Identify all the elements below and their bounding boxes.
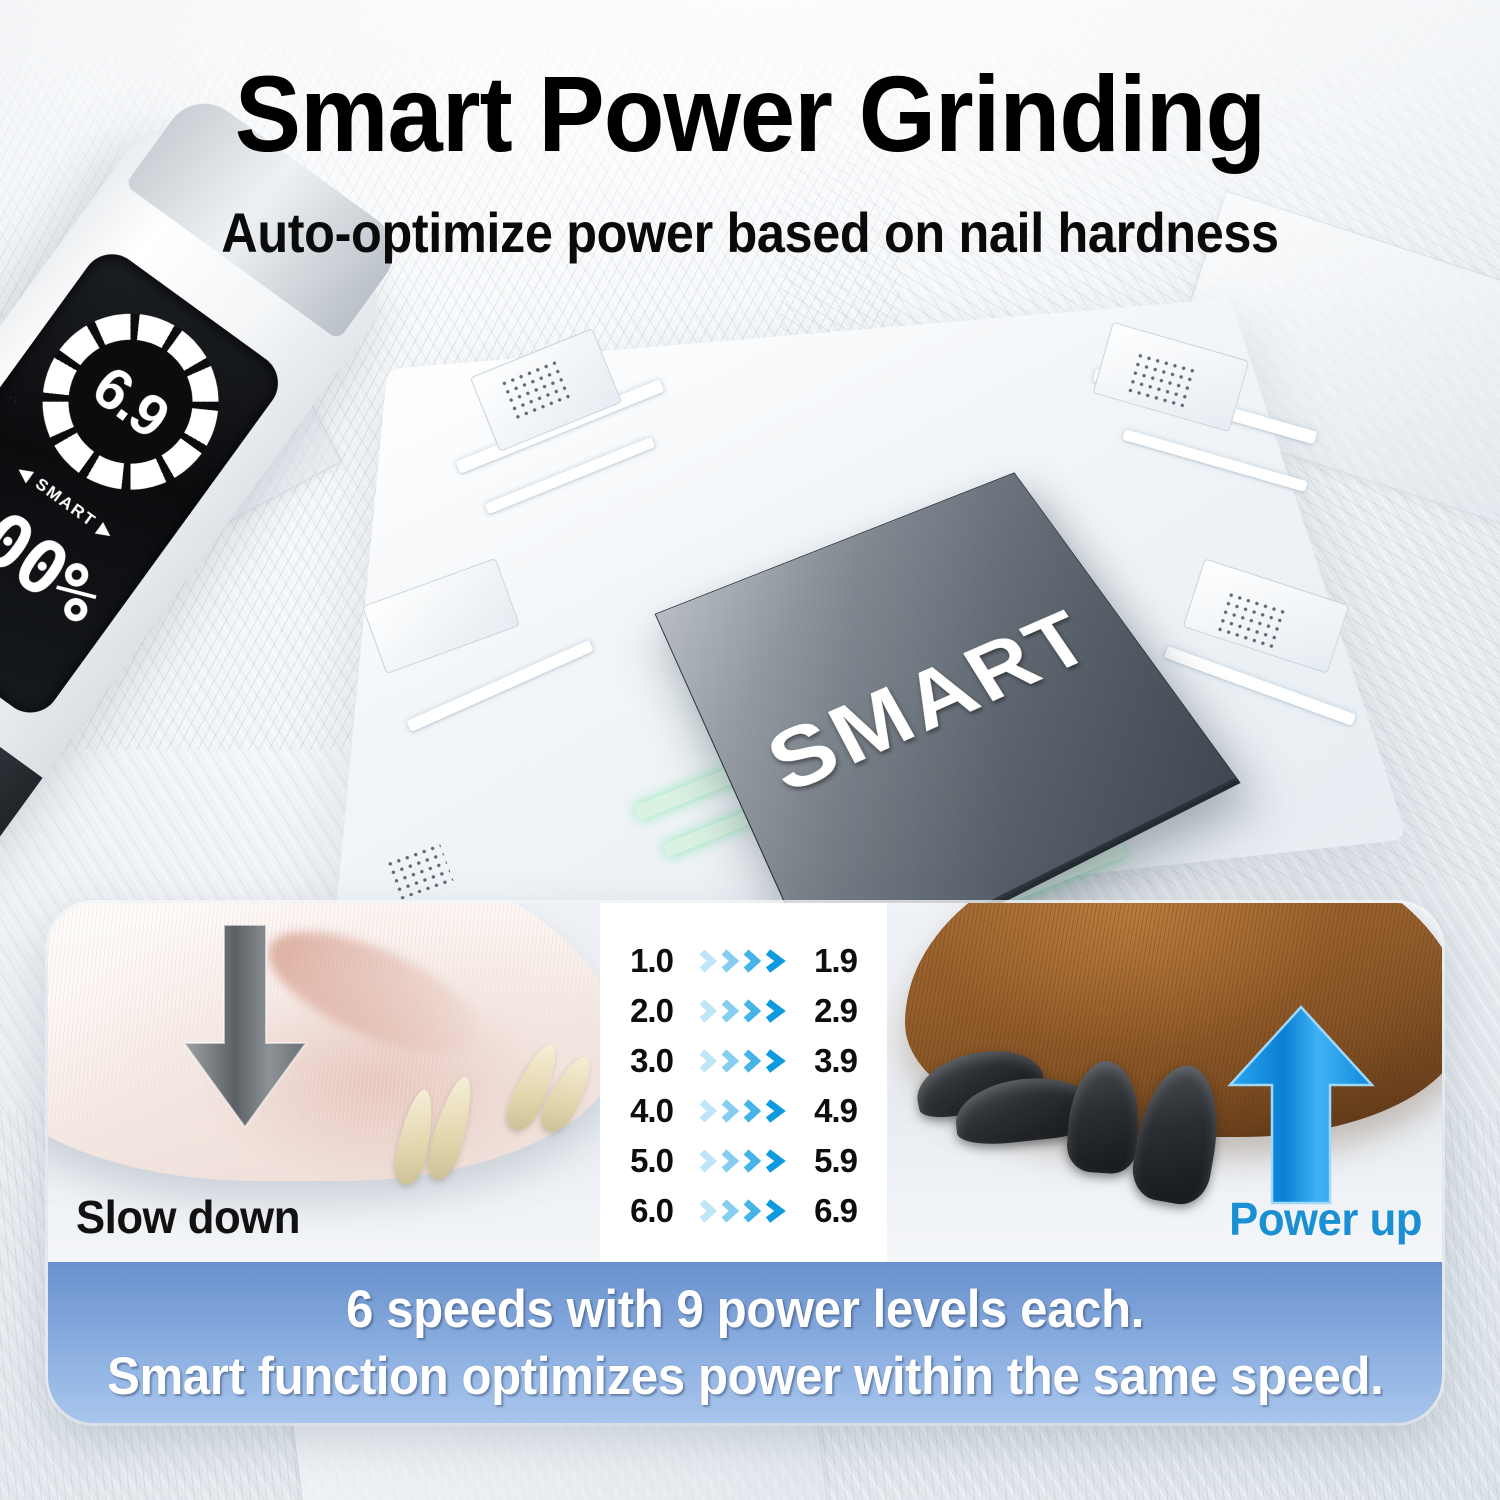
slow-down-panel: Slow down <box>48 903 600 1262</box>
arrow-down-icon <box>180 925 310 1130</box>
infographic-canvas: SMART 6.9 ◀ SMART ▶ 100% Smart Power Gri… <box>0 0 1500 1500</box>
chevron-group-icon <box>698 1198 790 1224</box>
page-subtitle: Auto-optimize power based on nail hardne… <box>75 205 1425 261</box>
banner-line-2: Smart function optimizes power within th… <box>107 1346 1383 1407</box>
range-to: 3.9 <box>800 1042 872 1080</box>
range-from: 1.0 <box>616 942 688 980</box>
range-from: 5.0 <box>616 1142 688 1180</box>
range-to: 1.9 <box>800 942 872 980</box>
slow-down-label: Slow down <box>76 1190 300 1244</box>
range-to: 5.9 <box>800 1142 872 1180</box>
speed-value: 6.9 <box>81 353 181 451</box>
table-row: 2.0 2.9 <box>600 986 887 1036</box>
range-to: 6.9 <box>800 1192 872 1230</box>
device-lcd-screen: 6.9 ◀ SMART ▶ 100% <box>0 242 290 724</box>
summary-banner: 6 speeds with 9 power levels each. Smart… <box>48 1262 1442 1423</box>
comparison-card: Slow down 1.0 1.9 2.0 2.9 <box>48 903 1442 1423</box>
speed-dial-center: 6.9 <box>44 315 217 488</box>
table-row: 5.0 5.9 <box>600 1136 887 1186</box>
range-to: 2.9 <box>800 992 872 1030</box>
table-row: 3.0 3.9 <box>600 1036 887 1086</box>
power-up-panel: Power up <box>887 903 1442 1262</box>
chevron-group-icon <box>698 1048 790 1074</box>
range-from: 6.0 <box>616 1192 688 1230</box>
white-dog-paw-image <box>48 903 600 1181</box>
card-top-row: Slow down 1.0 1.9 2.0 2.9 <box>48 903 1442 1262</box>
table-row: 1.0 1.9 <box>600 936 887 986</box>
range-from: 4.0 <box>616 1092 688 1130</box>
chevron-group-icon <box>698 1148 790 1174</box>
chevron-group-icon <box>698 998 790 1024</box>
page-title: Smart Power Grinding <box>60 60 1440 168</box>
chevron-group-icon <box>698 948 790 974</box>
speed-range-table: 1.0 1.9 2.0 2.9 3.0 <box>600 903 887 1262</box>
arrow-up-icon <box>1226 1005 1376 1205</box>
range-to: 4.9 <box>800 1092 872 1130</box>
table-row: 4.0 4.9 <box>600 1086 887 1136</box>
banner-line-1: 6 speeds with 9 power levels each. <box>346 1279 1144 1340</box>
table-row: 6.0 6.9 <box>600 1186 887 1236</box>
power-up-label: Power up <box>1229 1192 1422 1246</box>
range-from: 2.0 <box>616 992 688 1030</box>
range-from: 3.0 <box>616 1042 688 1080</box>
chevron-group-icon <box>698 1098 790 1124</box>
